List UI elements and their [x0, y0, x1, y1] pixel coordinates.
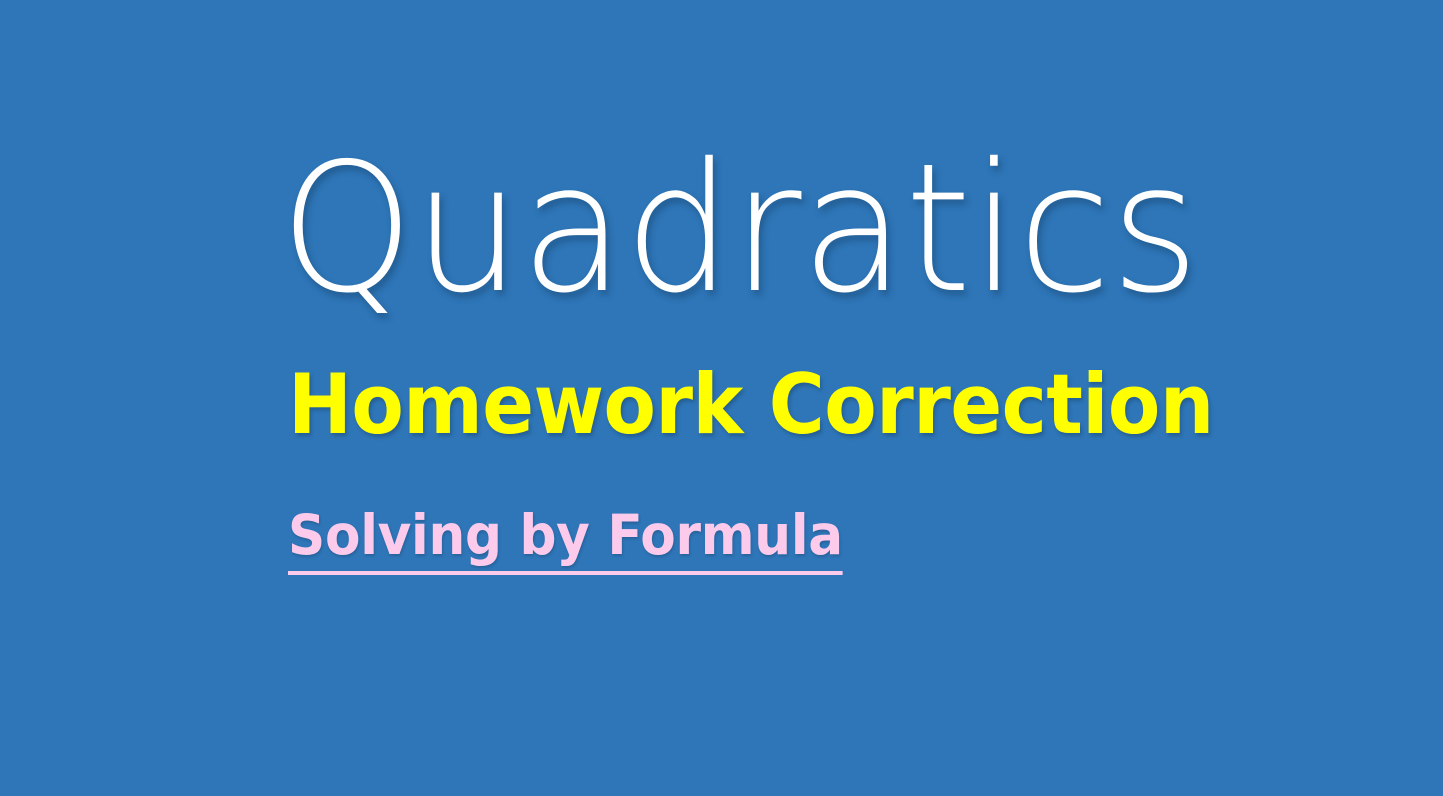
presentation-slide: Quadratics Homework Correction Solving b… — [0, 0, 1443, 796]
slide-title: Quadratics — [280, 140, 1350, 318]
slide-content-area: Quadratics Homework Correction Solving b… — [0, 0, 1443, 796]
slide-subtitle: Homework Correction — [288, 363, 1214, 446]
slide-tagline-container: Solving by Formula — [288, 508, 878, 575]
slide-tagline: Solving by Formula — [288, 508, 843, 575]
